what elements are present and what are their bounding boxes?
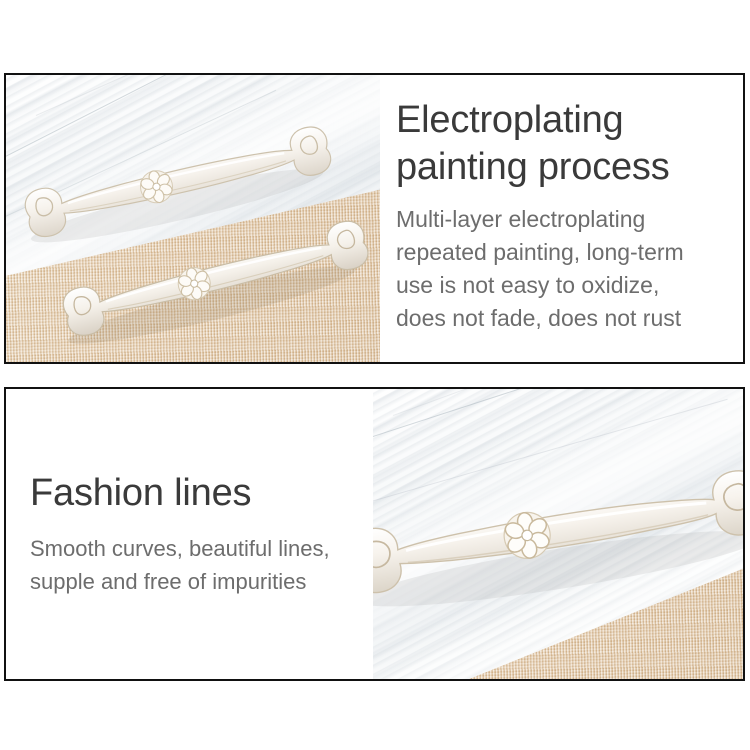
cabinet-handle <box>40 227 380 357</box>
panel-heading: Electroplating painting process <box>396 97 735 191</box>
feature-panel-fashion-lines: Fashion lines Smooth curves, beautiful l… <box>4 387 745 681</box>
product-photo-fashion-lines <box>373 389 743 679</box>
feature-panel-electroplating: Electroplating painting process Multi-la… <box>4 73 745 364</box>
feature-text-fashion-lines: Fashion lines Smooth curves, beautiful l… <box>6 389 373 679</box>
panel-body-text: Smooth curves, beautiful lines, supple a… <box>30 532 363 598</box>
feature-text-electroplating: Electroplating painting process Multi-la… <box>380 75 743 362</box>
panel-body-text: Multi-layer electroplating repeated pain… <box>396 203 735 335</box>
cabinet-handle <box>373 461 743 631</box>
product-feature-page: Electroplating painting process Multi-la… <box>0 0 750 750</box>
panel-heading: Fashion lines <box>30 470 363 516</box>
product-photo-electroplating <box>6 75 380 362</box>
